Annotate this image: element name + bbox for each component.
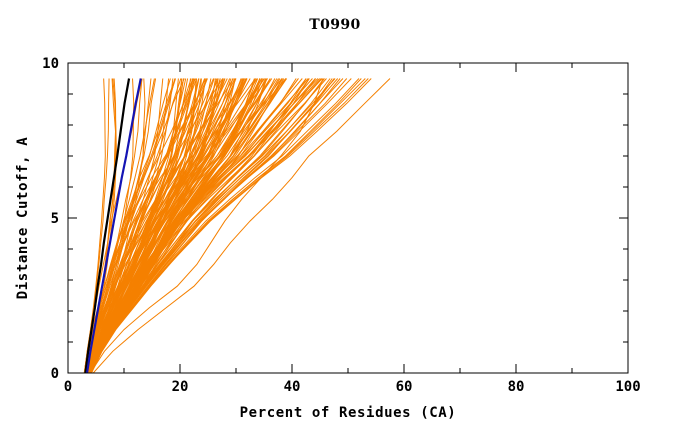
y-tick-label: 0 [51, 366, 59, 382]
x-tick-label: 100 [615, 379, 640, 395]
y-tick-label: 10 [42, 56, 59, 72]
x-tick-label: 20 [172, 379, 189, 395]
x-tick-label: 40 [284, 379, 301, 395]
page-title: T0990 [309, 17, 360, 33]
y-tick-label: 5 [51, 211, 59, 227]
x-tick-label: 0 [64, 379, 72, 395]
x-tick-label: 60 [396, 379, 413, 395]
x-tick-label: 80 [508, 379, 525, 395]
x-axis-title: Percent of Residues (CA) [240, 405, 457, 421]
plot-curves [84, 79, 390, 374]
chart-container: T0990 0204060801000510 Percent of Residu… [0, 0, 680, 440]
y-axis-title: Distance Cutoff, A [15, 137, 31, 300]
distance-cutoff-plot: T0990 0204060801000510 Percent of Residu… [0, 0, 680, 440]
